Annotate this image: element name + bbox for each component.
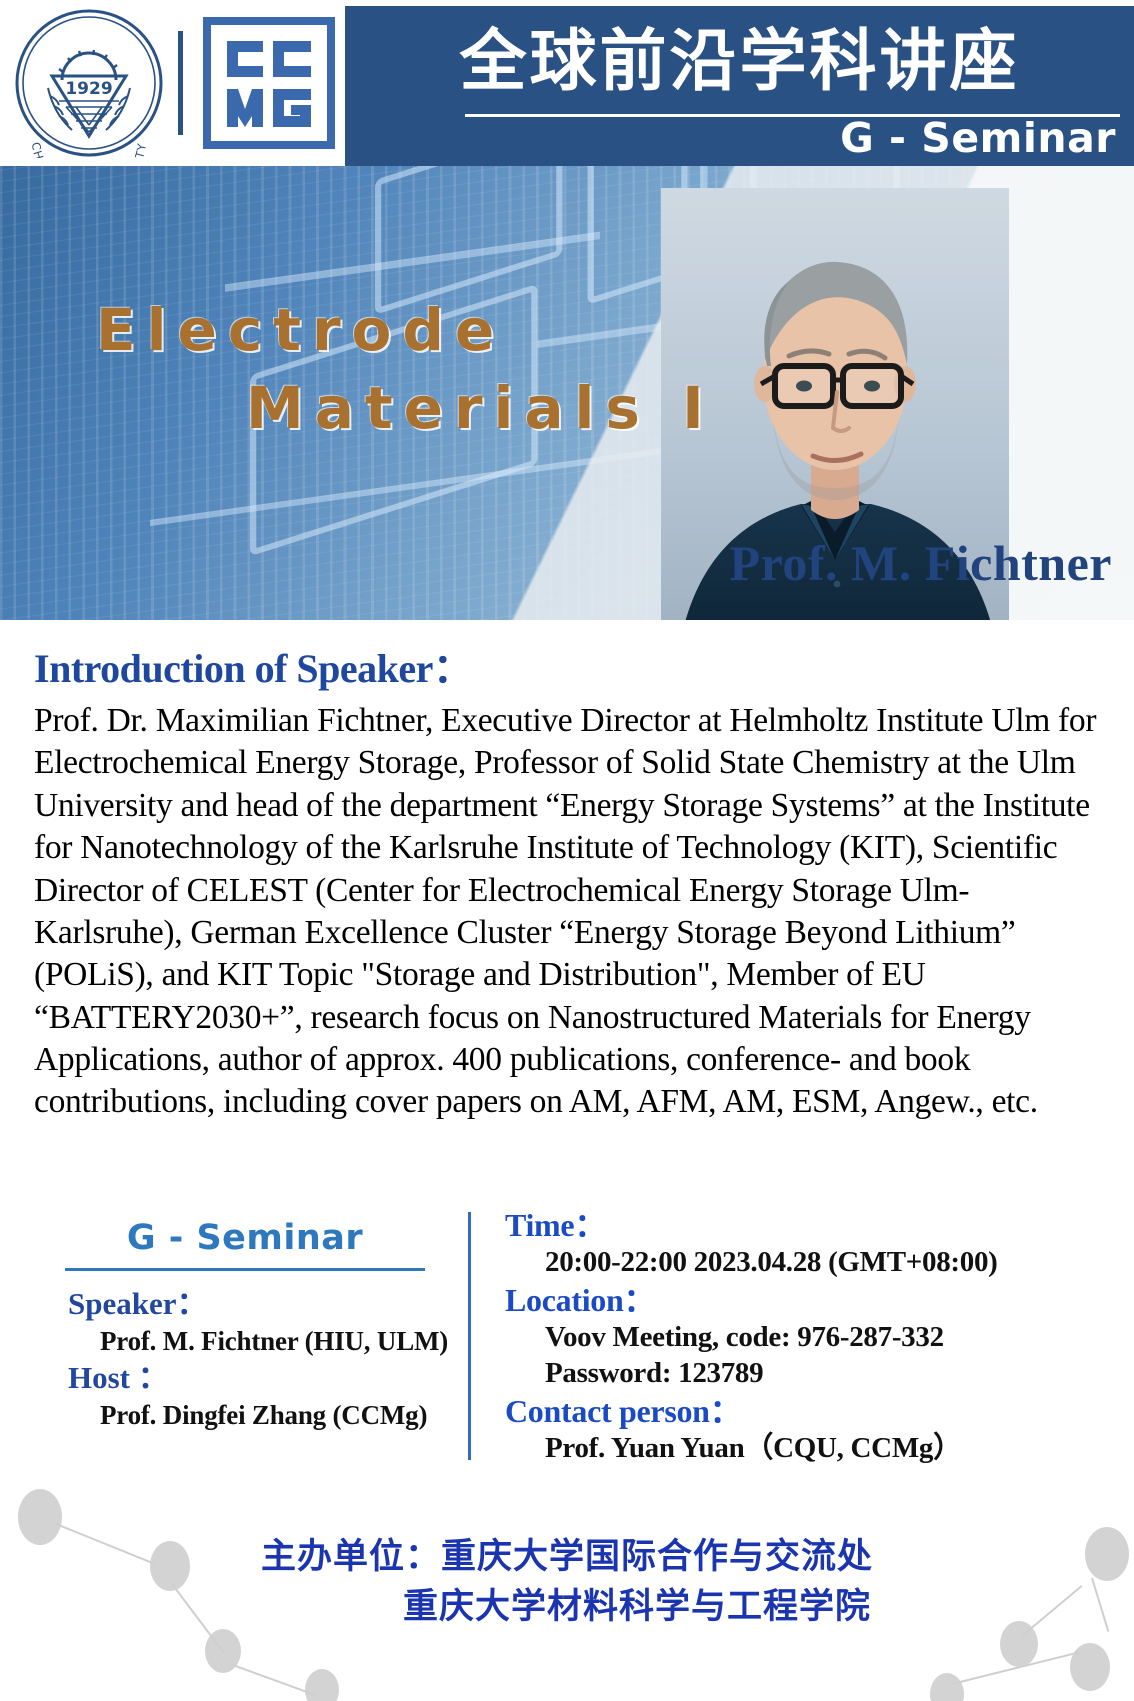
poster-header: 重慶大學 CHONGQING UNIVERSITY 1929 — [0, 0, 1134, 166]
details-section: G - Seminar Speaker： Prof. M. Fichtner (… — [0, 1206, 1134, 1466]
talk-title: Electrode Materials I — [96, 291, 736, 448]
organizer-line-2: 重庆大学材料科学与工程学院 — [140, 1583, 1134, 1633]
time-label: Time： — [505, 1206, 1125, 1245]
talk-title-line1: Electrode — [96, 296, 505, 364]
header-title-en: G - Seminar — [416, 114, 1116, 162]
poster-footer: 主办单位：重庆大学国际合作与交流处 重庆大学材料科学与工程学院 — [0, 1471, 1134, 1701]
details-right-column: Time： 20:00-22:00 2023.04.28 (GMT+08:00)… — [505, 1206, 1125, 1467]
host-value: Prof. Dingfei Zhang (CCMg) — [100, 1398, 460, 1434]
chongqing-university-seal-icon: 重慶大學 CHONGQING UNIVERSITY 1929 — [14, 8, 164, 158]
svg-text:1929: 1929 — [65, 79, 112, 99]
header-title-cn: 全球前沿学科讲座 — [345, 20, 1134, 104]
hero-speaker-name: Prof. M. Fichtner — [730, 534, 1112, 592]
location-label: Location： — [505, 1281, 1125, 1320]
contact-person-value: Prof. Yuan Yuan（CQU, CCMg） — [545, 1431, 1125, 1467]
ccmg-logo-icon — [203, 17, 335, 149]
logo-area: 重慶大學 CHONGQING UNIVERSITY 1929 — [0, 0, 345, 166]
speaker-label: Speaker： — [68, 1285, 460, 1324]
contact-person-label: Contact person： — [505, 1392, 1125, 1431]
g-seminar-divider — [65, 1268, 425, 1271]
introduction-heading: Introduction of Speaker： — [34, 636, 1100, 694]
location-meeting-code: Voov Meeting, code: 976-287-332 — [545, 1320, 1125, 1356]
details-vertical-divider — [468, 1212, 471, 1460]
location-password: Password: 123789 — [545, 1356, 1125, 1392]
organizer-line-1: 主办单位：重庆大学国际合作与交流处 — [261, 1537, 873, 1577]
organizer-text: 主办单位：重庆大学国际合作与交流处 重庆大学材料科学与工程学院 — [0, 1533, 1134, 1632]
logo-divider — [178, 31, 183, 135]
time-value: 20:00-22:00 2023.04.28 (GMT+08:00) — [545, 1245, 1125, 1281]
g-seminar-badge: G - Seminar — [30, 1218, 460, 1258]
talk-title-line2: Materials I — [246, 369, 736, 447]
speaker-value: Prof. M. Fichtner (HIU, ULM) — [100, 1324, 460, 1360]
introduction-body: Prof. Dr. Maximilian Fichtner, Executive… — [34, 700, 1100, 1124]
details-left-column: G - Seminar Speaker： Prof. M. Fichtner (… — [30, 1218, 460, 1434]
introduction-section: Introduction of Speaker： Prof. Dr. Maxim… — [0, 620, 1134, 1124]
host-label: Host ： — [68, 1359, 460, 1398]
hero-banner: Electrode Materials I Prof. M. Fichtner — [0, 166, 1134, 620]
